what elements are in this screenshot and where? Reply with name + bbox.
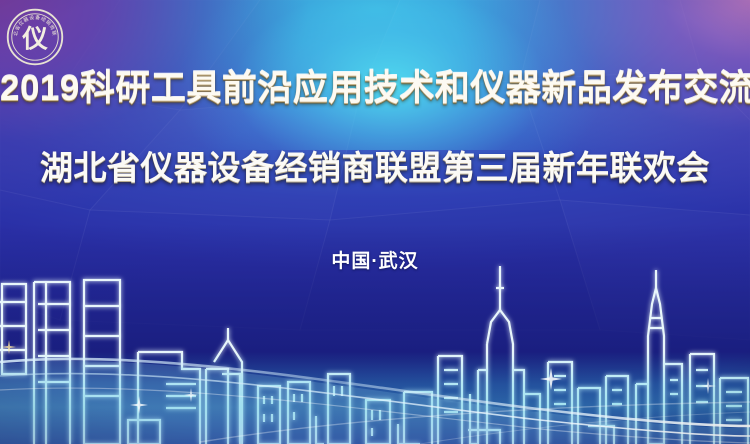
vignette-overlay — [0, 0, 750, 444]
conference-backdrop-banner: 湖北省仪器设备经销商联盟 仪 2019科研工具前沿应用技术和仪器新品发布交流会 … — [0, 0, 750, 444]
association-seal-logo: 湖北省仪器设备经销商联盟 仪 — [6, 8, 64, 66]
seal-center-character: 仪 — [21, 24, 48, 53]
